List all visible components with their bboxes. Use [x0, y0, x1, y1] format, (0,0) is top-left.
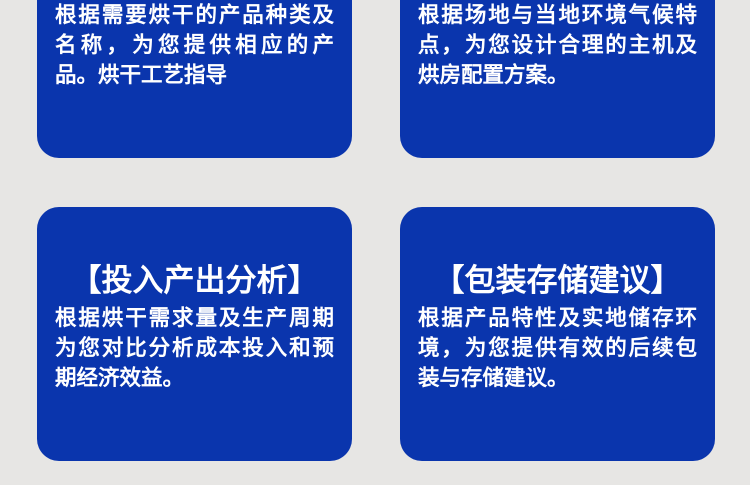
card-body-host-design: 根据场地与当地环境气候特点，为您设计合理的主机及烘房配置方案。 — [414, 0, 701, 90]
card-body-io-analysis: 根据烘干需求量及生产周期为您对比分析成本投入和预期经济效益。 — [51, 301, 338, 393]
card-content: 【主机及烘房设计】 根据场地与当地环境气候特点，为您设计合理的主机及烘房配置方案… — [414, 0, 701, 90]
card-body-pack-storage: 根据产品特性及实地储存环境，为您提供有效的后续包装与存储建议。 — [414, 301, 701, 393]
card-title-io-analysis: 【投入产出分析】 — [51, 261, 338, 301]
page-root: 【产品种类确认】 根据需要烘干的产品种类及名称，为您提供相应的产品。烘干工艺指导… — [0, 0, 750, 500]
card-content: 【包装存储建议】 根据产品特性及实地储存环境，为您提供有效的后续包装与存储建议。 — [414, 207, 701, 393]
service-card-pack-storage[interactable]: 【包装存储建议】 根据产品特性及实地储存环境，为您提供有效的后续包装与存储建议。 — [400, 207, 715, 461]
card-title-pack-storage: 【包装存储建议】 — [414, 261, 701, 301]
service-card-host-design[interactable]: 【主机及烘房设计】 根据场地与当地环境气候特点，为您设计合理的主机及烘房配置方案… — [400, 0, 715, 158]
card-content: 【产品种类确认】 根据需要烘干的产品种类及名称，为您提供相应的产品。烘干工艺指导 — [51, 0, 338, 90]
service-card-io-analysis[interactable]: 【投入产出分析】 根据烘干需求量及生产周期为您对比分析成本投入和预期经济效益。 — [37, 207, 352, 461]
card-content: 【投入产出分析】 根据烘干需求量及生产周期为您对比分析成本投入和预期经济效益。 — [51, 207, 338, 393]
service-card-product-type[interactable]: 【产品种类确认】 根据需要烘干的产品种类及名称，为您提供相应的产品。烘干工艺指导 — [37, 0, 352, 158]
card-body-product-type: 根据需要烘干的产品种类及名称，为您提供相应的产品。烘干工艺指导 — [51, 0, 338, 90]
